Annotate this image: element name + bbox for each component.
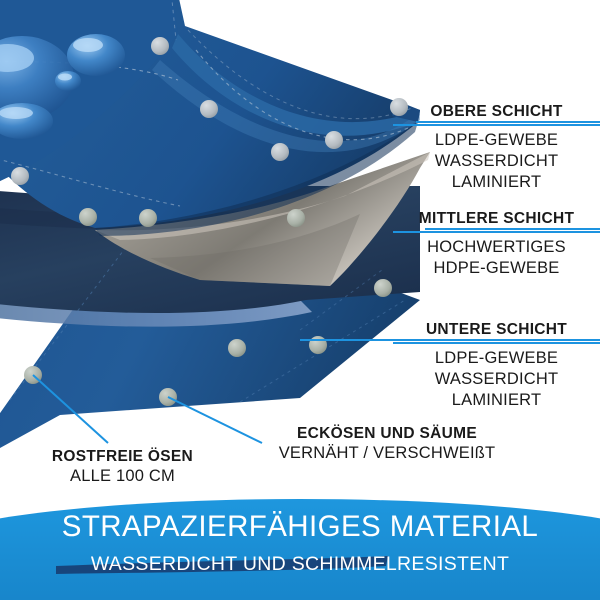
grommet [271, 143, 289, 161]
callout-top-layer-line-3: LAMINIERT [393, 172, 600, 193]
callout-middle-layer-line-1: HOCHWERTIGES [393, 237, 600, 258]
callout-bottom-layer-title: UNTERE SCHICHT [393, 321, 600, 339]
grommet [139, 209, 157, 227]
callout-top-layer-line-1: LDPE-GEWEBE [393, 130, 600, 151]
callout-middle-layer-line-2: HDPE-GEWEBE [393, 258, 600, 279]
callout-middle-layer-title: MITTLERE SCHICHT [393, 210, 600, 228]
product-infographic: OBERE SCHICHT LDPE-GEWEBE WASSERDICHT LA… [0, 0, 600, 600]
grommet [228, 339, 246, 357]
bottom-banner [0, 499, 600, 600]
grommet [79, 208, 97, 226]
callout-eyelets-title: ROSTFREIE ÖSEN [10, 448, 235, 466]
callout-middle-layer-rule [393, 231, 600, 233]
callout-bottom-layer-line-2: WASSERDICHT [393, 369, 600, 390]
grommet [200, 100, 218, 118]
callout-top-layer-rule [393, 124, 600, 126]
callout-middle-layer: MITTLERE SCHICHT HOCHWERTIGES HDPE-GEWEB… [393, 210, 600, 279]
grommet [287, 209, 305, 227]
callout-eyelets: ROSTFREIE ÖSEN ALLE 100 CM [10, 448, 235, 487]
grommet [151, 37, 169, 55]
callout-corners: ECKÖSEN UND SÄUME VERNÄHT / VERSCHWEIßT [262, 425, 512, 464]
callout-top-layer-title: OBERE SCHICHT [393, 103, 600, 121]
grommet [374, 279, 392, 297]
callout-bottom-layer-rule [393, 342, 600, 344]
callout-corners-line-1: VERNÄHT / VERSCHWEIßT [262, 443, 512, 464]
callout-bottom-layer: UNTERE SCHICHT LDPE-GEWEBE WASSERDICHT L… [393, 321, 600, 411]
grommet [325, 131, 343, 149]
tarp-illustration [0, 0, 600, 600]
callout-corners-title: ECKÖSEN UND SÄUME [262, 425, 512, 443]
callout-bottom-layer-line-3: LAMINIERT [393, 390, 600, 411]
callout-eyelets-line-1: ALLE 100 CM [10, 466, 235, 487]
grommet [309, 336, 327, 354]
callout-top-layer-line-2: WASSERDICHT [393, 151, 600, 172]
grommet [11, 167, 29, 185]
callout-top-layer: OBERE SCHICHT LDPE-GEWEBE WASSERDICHT LA… [393, 103, 600, 193]
callout-bottom-layer-line-1: LDPE-GEWEBE [393, 348, 600, 369]
